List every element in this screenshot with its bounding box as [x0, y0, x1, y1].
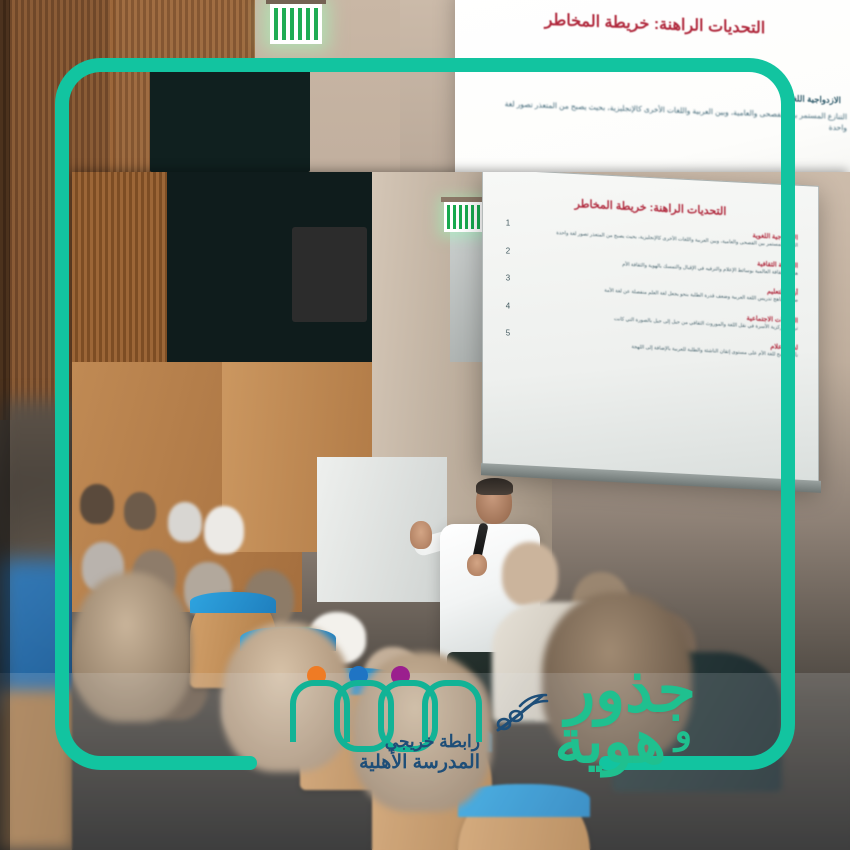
slide-item: الازدواجية اللغوية التنازع المستمر بين ا…: [503, 218, 798, 250]
left-edge-shade: [0, 0, 10, 850]
slide-item-number: 3: [503, 273, 513, 283]
projector-screen: التحديات الراهنة: خريطة المخاطر الازدواج…: [482, 172, 819, 488]
brand-logo: رابطة خريجي المدرسة الأهلية جذور هوية و: [280, 662, 700, 802]
brand-word-conjunction: و: [675, 710, 692, 752]
audience-head: [124, 492, 156, 530]
audience-head-hijab: [204, 506, 244, 554]
slide-item-number: 5: [503, 328, 513, 338]
slide-title: التحديات الراهنة: خريطة المخاطر: [497, 193, 804, 222]
slide-item-number: 4: [503, 301, 513, 311]
audience-head: [80, 484, 114, 524]
logo-arches-icon: [290, 680, 455, 740]
association-name-line1: رابطة خريجي: [280, 732, 480, 752]
association-name-line2: المدرسة الأهلية: [280, 752, 480, 774]
olive-branch-icon: [494, 690, 552, 734]
social-media-card: التحديات الراهنة: خريطة المخاطر الازدواج…: [0, 0, 850, 850]
audience-head: [502, 542, 558, 606]
background-slide-title: التحديات الراهنة: خريطة المخاطر: [455, 6, 850, 41]
inset-ceiling-speaker: [292, 227, 367, 322]
slide-item-number: 1: [503, 218, 513, 228]
background-dark-panel: [150, 62, 310, 172]
brand-word-hawiyya: هوية: [554, 712, 666, 772]
slide-item: العولمة الثقافية هيمنة الثقافة العالمية …: [503, 246, 798, 278]
association-name: رابطة خريجي المدرسة الأهلية: [280, 732, 480, 774]
slide-item-number: 2: [503, 246, 513, 256]
slide-list: الازدواجية اللغوية التنازع المستمر بين ا…: [497, 218, 804, 361]
audience-head: [168, 502, 202, 542]
brand-wordmark: جذور هوية و: [485, 658, 700, 798]
slide-item: التحولات الاجتماعية تراجع مركزية الأسرة …: [503, 301, 798, 333]
inset-exit-sign-icon: [444, 202, 484, 232]
slide-item: لغة الإعلام تأثير واضح للغة الأم على مست…: [503, 328, 798, 360]
slide-item: أزمة التعليم ضعف مناهج تدريس اللغة العرب…: [503, 273, 798, 305]
exit-sign-icon: [270, 4, 322, 44]
